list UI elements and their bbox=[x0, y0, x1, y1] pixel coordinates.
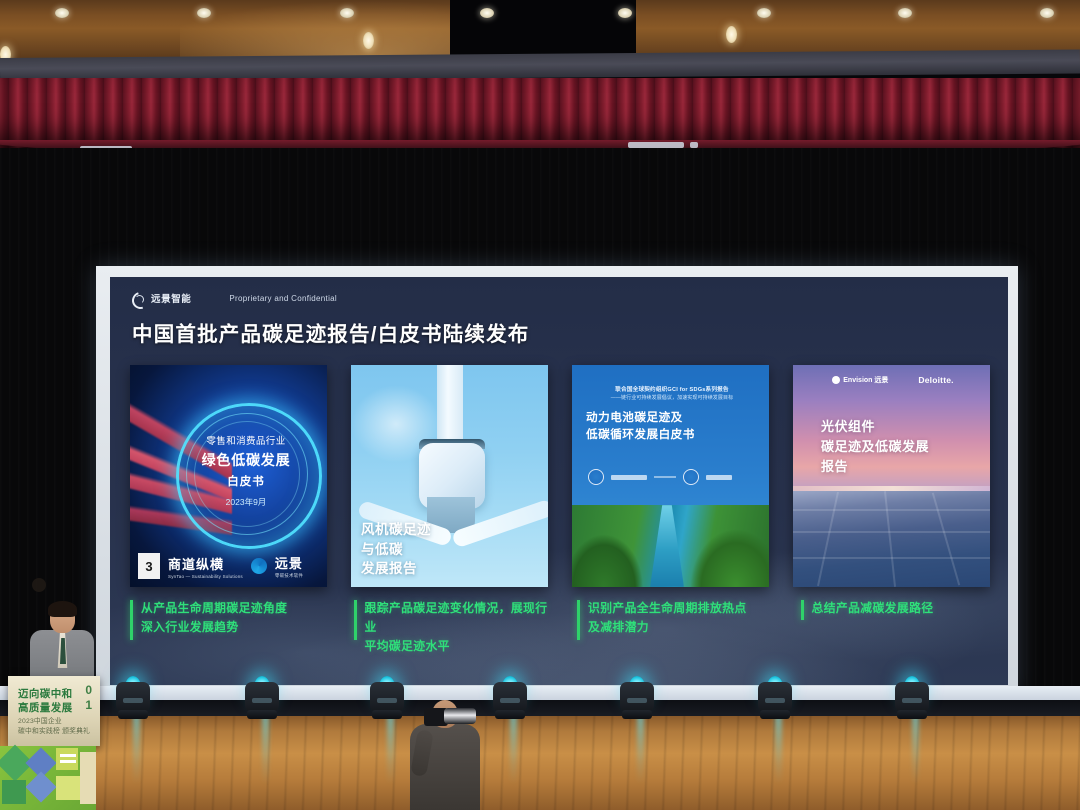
card-line-2: 低碳循环发展白皮书 bbox=[586, 426, 762, 443]
green-accent-bar bbox=[130, 600, 133, 640]
card-line-2: 绿色低碳发展 bbox=[170, 450, 322, 470]
camera-lens-icon bbox=[444, 708, 476, 724]
light-base bbox=[495, 710, 525, 719]
banner-tile bbox=[80, 752, 96, 804]
podium-number-bottom: 1 bbox=[85, 698, 92, 712]
rail-light-icon bbox=[197, 8, 211, 18]
light-beam bbox=[133, 714, 140, 784]
caption-text: 跟踪产品碳足迹变化情况，展现行业 平均碳足迹水平 bbox=[365, 599, 554, 656]
confidential-note: Proprietary and Confidential bbox=[229, 294, 337, 303]
moving-head-light[interactable] bbox=[245, 676, 279, 722]
light-base bbox=[760, 710, 790, 719]
ceiling-light-icon bbox=[363, 32, 374, 49]
rail-light-icon bbox=[757, 8, 771, 18]
moving-head-light[interactable] bbox=[620, 676, 654, 722]
light-beam bbox=[387, 714, 394, 784]
light-beam bbox=[775, 714, 782, 784]
banner-tile bbox=[2, 780, 26, 804]
brand-logo: 远景智能 bbox=[132, 291, 191, 305]
caption-line-2: 平均碳足迹水平 bbox=[365, 637, 554, 656]
card-line-2: 碳足迹及低碳发展 bbox=[821, 437, 989, 457]
card-date: 2023年9月 bbox=[170, 496, 322, 508]
card-header-line-2: ——链行业可持续发展倡议，加速实现可持续发展目标 bbox=[584, 394, 760, 401]
report-cards-row: 零售和消费品行业 绿色低碳发展 白皮书 2023年9月 3 商道纵横 SynTa… bbox=[130, 365, 990, 587]
logo-divider bbox=[654, 476, 676, 477]
light-slot bbox=[377, 698, 397, 703]
caption-row: 从产品生命周期碳足迹角度 深入行业发展趋势 跟踪产品碳足迹变化情况，展现行业 平… bbox=[130, 599, 1000, 656]
syntao-mark-icon: 3 bbox=[138, 553, 160, 579]
green-accent-bar bbox=[577, 600, 580, 640]
solar-panel-art bbox=[793, 491, 990, 587]
report-card-retail-consumer[interactable]: 零售和消费品行业 绿色低碳发展 白皮书 2023年9月 3 商道纵横 SynTa… bbox=[130, 365, 327, 587]
card-logo-row: Envision 远景 Deloitte. bbox=[793, 375, 990, 385]
logo-primary-name: 商道纵横 bbox=[168, 554, 243, 573]
podium: 迈向碳中和 高质量发展 0 1 2023中国企业 碳中和实践榜 颁奖典礼 bbox=[8, 676, 100, 746]
card-line-1: 动力电池碳足迹及 bbox=[586, 409, 762, 426]
un-globe-icon bbox=[588, 469, 604, 485]
panel-line bbox=[793, 509, 990, 511]
caption-item: 跟踪产品碳足迹变化情况，展现行业 平均碳足迹水平 bbox=[354, 599, 554, 656]
envision-ring-icon bbox=[132, 292, 145, 305]
card-line-3: 报告 bbox=[821, 457, 989, 477]
moving-head-light[interactable] bbox=[370, 676, 404, 722]
light-base bbox=[622, 710, 652, 719]
light-base bbox=[897, 710, 927, 719]
light-slot bbox=[123, 698, 143, 703]
card-top-area: 联合国全球契约组织GCI for SDGs系列报告 ——链行业可持续发展倡议，加… bbox=[572, 365, 769, 505]
partner-logo-icon bbox=[683, 469, 699, 485]
light-yoke bbox=[245, 682, 279, 712]
podium-subtitle-2: 碳中和实践榜 颁奖典礼 bbox=[18, 725, 90, 735]
rail-light-icon bbox=[618, 8, 632, 18]
light-beam bbox=[637, 714, 644, 784]
card-title-block: 动力电池碳足迹及 低碳循环发展白皮书 bbox=[586, 409, 762, 444]
caption-text: 从产品生命周期碳足迹角度 深入行业发展趋势 bbox=[141, 599, 330, 637]
card-header-line-1: 联合国全球契约组织GCI for SDGs系列报告 bbox=[584, 385, 760, 393]
ceiling-light-icon bbox=[726, 26, 737, 43]
envision-dot-icon bbox=[832, 376, 840, 384]
logo-primary-sub: SynTao — Sustainability Solutions bbox=[168, 574, 243, 579]
light-beam bbox=[912, 714, 919, 784]
caption-line-1: 总结产品减碳发展路径 bbox=[812, 599, 1001, 618]
podium-subtitle-1: 2023中国企业 bbox=[18, 715, 62, 725]
page-title: 中国首批产品碳足迹报告/白皮书陆续发布 bbox=[132, 317, 530, 347]
card-line-1: 光伏组件 bbox=[821, 417, 989, 437]
light-yoke bbox=[895, 682, 929, 712]
light-slot bbox=[627, 698, 647, 703]
panel-line bbox=[817, 492, 839, 586]
light-slot bbox=[902, 698, 922, 703]
light-yoke bbox=[620, 682, 654, 712]
logo-right-name: Deloitte. bbox=[918, 375, 953, 385]
moving-head-light[interactable] bbox=[116, 676, 150, 722]
envision-logo: Envision 远景 bbox=[832, 375, 888, 385]
banner-tile bbox=[60, 754, 76, 757]
green-accent-bar bbox=[801, 600, 804, 620]
caption-line-1: 识别产品全生命周期排放热点 bbox=[588, 599, 777, 618]
auditorium-scene: 远景智能 Proprietary and Confidential 中国首批产品… bbox=[0, 0, 1080, 810]
logo-secondary-sub: 零碳技术软件 bbox=[275, 573, 303, 579]
podium-headline-2: 高质量发展 bbox=[18, 700, 73, 715]
card-line-3: 白皮书 bbox=[170, 473, 322, 489]
rail-light-icon bbox=[340, 8, 354, 18]
panel-line bbox=[884, 491, 896, 587]
panel-line bbox=[932, 493, 960, 586]
light-slot bbox=[500, 698, 520, 703]
caption-line-1: 从产品生命周期碳足迹角度 bbox=[141, 599, 330, 618]
logo-secondary-name: 远景 bbox=[275, 553, 303, 572]
brand-name: 远景智能 bbox=[151, 291, 191, 305]
moving-head-light[interactable] bbox=[758, 676, 792, 722]
report-card-pv-module[interactable]: Envision 远景 Deloitte. 光伏组件 碳足迹及低碳发展 报告 bbox=[793, 365, 990, 587]
card-line-3: 发展报告 bbox=[361, 559, 431, 579]
card-logo-row bbox=[588, 469, 732, 485]
caption-line-2: 及减排潜力 bbox=[588, 618, 777, 637]
light-base bbox=[247, 710, 277, 719]
podium-headline-1: 迈向碳中和 bbox=[18, 686, 73, 701]
light-slot bbox=[252, 698, 272, 703]
banner-tile bbox=[56, 748, 78, 770]
caption-item: 总结产品减碳发展路径 bbox=[801, 599, 1001, 656]
caption-text: 识别产品全生命周期排放热点 及减排潜力 bbox=[588, 599, 777, 637]
caption-line-2: 深入行业发展趋势 bbox=[141, 618, 330, 637]
panel-line bbox=[793, 531, 990, 533]
logo-wordmark-bar bbox=[611, 475, 647, 480]
logo-left-name: Envision 远景 bbox=[843, 375, 888, 385]
light-yoke bbox=[493, 682, 527, 712]
card-title-block: 零售和消费品行业 绿色低碳发展 白皮书 2023年9月 bbox=[170, 433, 322, 508]
speaker-hair bbox=[48, 601, 77, 617]
moving-head-light[interactable] bbox=[493, 676, 527, 722]
wall-fixture-icon bbox=[32, 578, 46, 592]
caption-line-1: 跟踪产品碳足迹变化情况，展现行业 bbox=[365, 599, 554, 637]
green-accent-bar bbox=[354, 600, 357, 640]
rail-light-icon bbox=[898, 8, 912, 18]
moving-head-light[interactable] bbox=[895, 676, 929, 722]
card-title-block: 光伏组件 碳足迹及低碳发展 报告 bbox=[821, 417, 989, 477]
banner-tile bbox=[60, 760, 76, 763]
card-title-block: 风机碳足迹 与低碳 发展报告 bbox=[361, 520, 431, 579]
light-yoke bbox=[758, 682, 792, 712]
card-logo-row: 3 商道纵横 SynTao — Sustainability Solutions… bbox=[138, 553, 322, 579]
rail-light-icon bbox=[480, 8, 494, 18]
light-base bbox=[372, 710, 402, 719]
envision-swirl-icon bbox=[251, 558, 267, 574]
light-beam bbox=[262, 714, 269, 784]
partner-wordmark-bar bbox=[706, 475, 732, 480]
podium-number-top: 0 bbox=[85, 683, 92, 697]
caption-text: 总结产品减碳发展路径 bbox=[812, 599, 1001, 618]
card-line-1: 零售和消费品行业 bbox=[170, 433, 322, 447]
caption-item: 识别产品全生命周期排放热点 及减排潜力 bbox=[577, 599, 777, 656]
light-slot bbox=[765, 698, 785, 703]
banner-tile bbox=[25, 771, 56, 802]
light-base bbox=[118, 710, 148, 719]
light-beam bbox=[510, 714, 517, 784]
banner-tile bbox=[56, 776, 80, 800]
report-card-power-battery[interactable]: 联合国全球契约组织GCI for SDGs系列报告 ——链行业可持续发展倡议，加… bbox=[572, 365, 769, 587]
led-screen: 远景智能 Proprietary and Confidential 中国首批产品… bbox=[110, 277, 1008, 685]
light-yoke bbox=[370, 682, 404, 712]
photographer-person bbox=[410, 698, 480, 810]
report-card-wind-turbine[interactable]: 风机碳足迹 与低碳 发展报告 bbox=[351, 365, 548, 587]
slide-header: 远景智能 Proprietary and Confidential bbox=[132, 291, 337, 305]
rail-light-icon bbox=[55, 8, 69, 18]
card-line-1: 风机碳足迹 bbox=[361, 520, 431, 540]
podium-banner bbox=[0, 746, 96, 810]
rail-light-icon bbox=[1040, 8, 1054, 18]
caption-item: 从产品生命周期碳足迹角度 深入行业发展趋势 bbox=[130, 599, 330, 656]
light-yoke bbox=[116, 682, 150, 712]
card-line-2: 与低碳 bbox=[361, 540, 431, 560]
